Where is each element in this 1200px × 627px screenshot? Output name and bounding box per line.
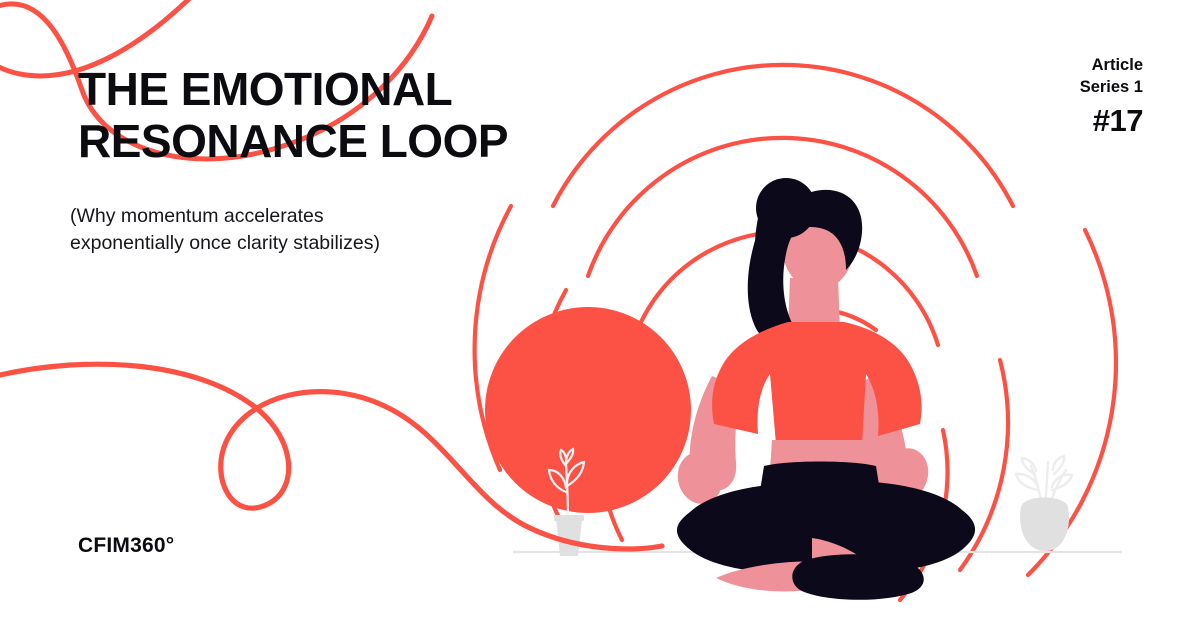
page-title: THE EMOTIONAL RESONANCE LOOP bbox=[78, 64, 548, 168]
poster-canvas: THE EMOTIONAL RESONANCE LOOP (Why moment… bbox=[0, 0, 1200, 627]
poster-text-layer: THE EMOTIONAL RESONANCE LOOP (Why moment… bbox=[0, 0, 1200, 627]
series-block: Article Series 1 #17 bbox=[1080, 55, 1143, 136]
page-subtitle: (Why momentum accelerates exponentially … bbox=[70, 203, 500, 257]
issue-number: #17 bbox=[1080, 105, 1143, 136]
series-label: Article Series 1 bbox=[1080, 55, 1143, 99]
title-block: THE EMOTIONAL RESONANCE LOOP bbox=[78, 64, 548, 168]
brand-logo: CFIM360° bbox=[78, 534, 174, 558]
